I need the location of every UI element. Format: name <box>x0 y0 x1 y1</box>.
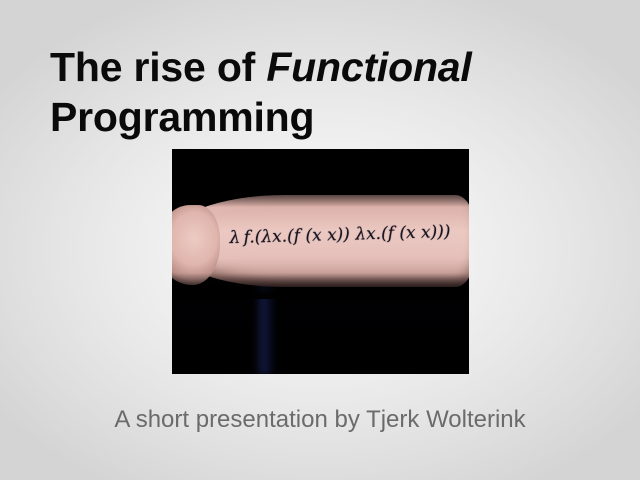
background-blue-glow <box>254 277 276 374</box>
title-line1-prefix: The rise of <box>50 44 266 90</box>
page-title: The rise of FunctionalProgramming <box>50 42 610 142</box>
slide-subtitle: A short presentation by Tjerk Wolterink <box>0 405 640 435</box>
title-line1-emphasis: Functional <box>266 44 471 90</box>
title-block: The rise of FunctionalProgramming <box>50 42 610 142</box>
slide-image: λ f.(λx.(f (x x)) λx.(f (x x))) <box>172 149 469 374</box>
tattoo-photograph: λ f.(λx.(f (x x)) λx.(f (x x))) <box>172 149 469 374</box>
presentation-title-slide: The rise of FunctionalProgramming λ f.(λ… <box>0 0 640 480</box>
title-line2: Programming <box>50 94 314 140</box>
